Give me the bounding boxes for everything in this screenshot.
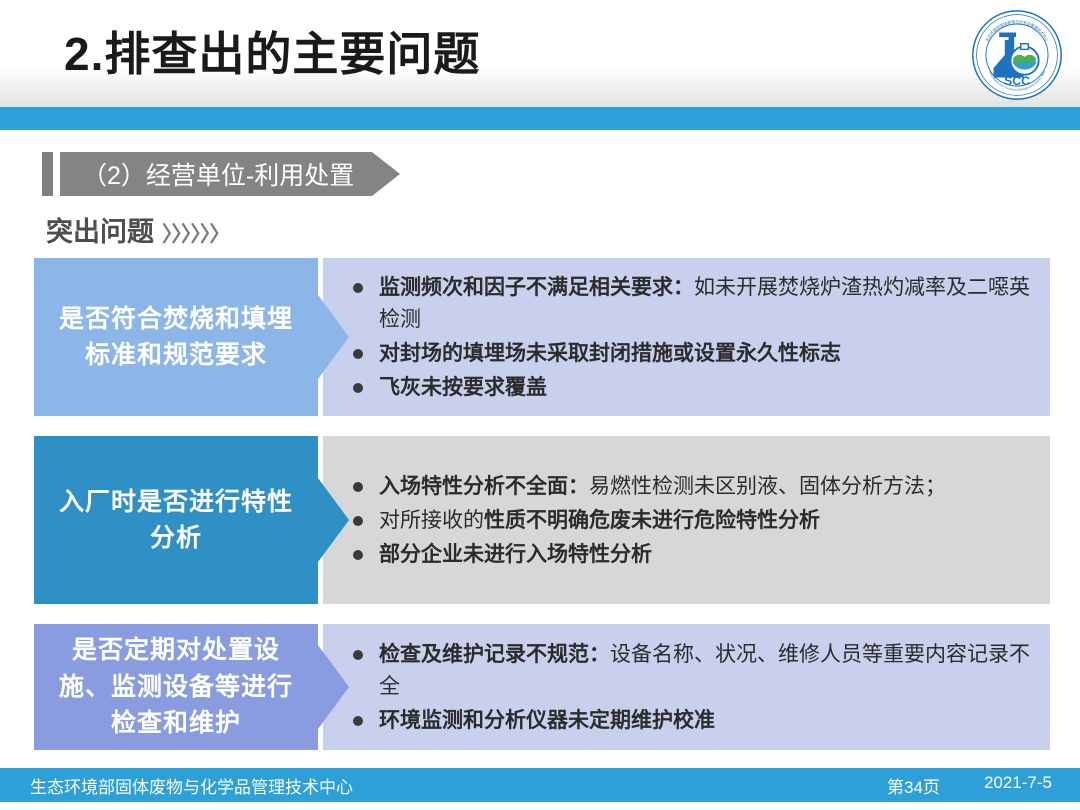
row-arrow-icon: [318, 258, 349, 416]
problem-row: 是否定期对处置设施、监测设备等进行检查和维护检查及维护记录不规范：设备名称、状况…: [34, 624, 1050, 750]
banner-body: （2）经营单位-利用处置: [60, 152, 372, 196]
bullet-item: 监测频次和因子不满足相关要求：如未开展焚烧炉渣热灼减率及二噁英检测: [379, 272, 1034, 336]
bullet-text-emphasis: 飞灰未按要求覆盖: [379, 376, 547, 399]
bullet-item: 对所接收的性质不明确危废未进行危险特性分析: [379, 505, 1034, 537]
bullet-text-emphasis: 环境监测和分析仪器未定期维护校准: [379, 709, 715, 732]
bullet-item: 飞灰未按要求覆盖: [379, 372, 1034, 404]
bullet-item: 对封场的填埋场未采取封闭措施或设置永久性标志: [379, 338, 1034, 370]
bullet-text-emphasis: 入场特性分析不全面：: [379, 475, 589, 498]
slide-footer: 生态环境部固体废物与化学品管理技术中心 第34页 2021-7-5: [0, 768, 1080, 802]
bullet-text-part: 对所接收的: [379, 509, 484, 532]
row-content-2: 入场特性分析不全面：易燃性检测未区别液、固体分析方法；对所接收的性质不明确危废未…: [323, 436, 1050, 604]
page-title: 2.排查出的主要问题: [64, 18, 480, 84]
row-label-3: 是否定期对处置设施、监测设备等进行检查和维护: [34, 624, 318, 750]
scc-logo: SCC 生态环境部固体废物与化学品管理技术中心 Solid Waste and …: [970, 8, 1064, 102]
bullet-item: 检查及维护记录不规范：设备名称、状况、维修人员等重要内容记录不全: [379, 639, 1034, 703]
bullet-text-emphasis: 对封场的填埋场未采取封闭措施或设置永久性标志: [379, 342, 841, 365]
logo-text: SCC: [1004, 74, 1030, 88]
bullet-text-emphasis: 检查及维护记录不规范：: [379, 643, 610, 666]
row-content-3: 检查及维护记录不规范：设备名称、状况、维修人员等重要内容记录不全环境监测和分析仪…: [323, 624, 1050, 750]
footer-meta: 第34页 2021-7-5: [887, 773, 1052, 798]
row-label-text: 是否符合焚烧和填埋标准和规范要求: [50, 301, 302, 374]
row-label-1: 是否符合焚烧和填埋标准和规范要求: [34, 258, 318, 416]
problem-row: 入厂时是否进行特性分析入场特性分析不全面：易燃性检测未区别液、固体分析方法；对所…: [34, 436, 1050, 604]
bullet-item: 部分企业未进行入场特性分析: [379, 539, 1034, 571]
row-label-2: 入厂时是否进行特性分析: [34, 436, 318, 604]
section-banner: （2）经营单位-利用处置: [42, 152, 372, 196]
subhead-label: 突出问题: [46, 210, 154, 249]
banner-tick-mark: [42, 152, 53, 196]
row-arrow-icon: [318, 624, 349, 750]
problem-rows: 是否符合焚烧和填埋标准和规范要求监测频次和因子不满足相关要求：如未开展焚烧炉渣热…: [34, 258, 1050, 770]
bullet-item: 环境监测和分析仪器未定期维护校准: [379, 705, 1034, 737]
banner-label: （2）经营单位-利用处置: [82, 156, 354, 192]
bullet-text-part: 性质不明确危废未进行危险特性分析: [484, 509, 820, 532]
slide-header: 2.排查出的主要问题: [0, 0, 1080, 107]
bullet-item: 入场特性分析不全面：易燃性检测未区别液、固体分析方法；: [379, 471, 1034, 503]
bullet-text-emphasis: 部分企业未进行入场特性分析: [379, 543, 652, 566]
chevron-right-icon: 〉〉〉〉〉〉: [162, 218, 230, 248]
header-accent-bar: [0, 107, 1080, 130]
row-label-text: 入厂时是否进行特性分析: [50, 484, 302, 557]
bullet-text-detail: 易燃性检测未区别液、固体分析方法；: [589, 475, 946, 498]
footer-org: 生态环境部固体废物与化学品管理技术中心: [30, 773, 353, 798]
row-label-text: 是否定期对处置设施、监测设备等进行检查和维护: [50, 632, 302, 742]
footer-page-number: 第34页: [887, 773, 940, 798]
row-arrow-icon: [318, 436, 349, 604]
footer-date: 2021-7-5: [984, 773, 1052, 798]
problem-row: 是否符合焚烧和填埋标准和规范要求监测频次和因子不满足相关要求：如未开展焚烧炉渣热…: [34, 258, 1050, 416]
bullet-text-emphasis: 监测频次和因子不满足相关要求：: [379, 276, 694, 299]
subhead-group: 突出问题 〉〉〉〉〉〉: [46, 210, 230, 249]
row-content-1: 监测频次和因子不满足相关要求：如未开展焚烧炉渣热灼减率及二噁英检测对封场的填埋场…: [323, 258, 1050, 416]
